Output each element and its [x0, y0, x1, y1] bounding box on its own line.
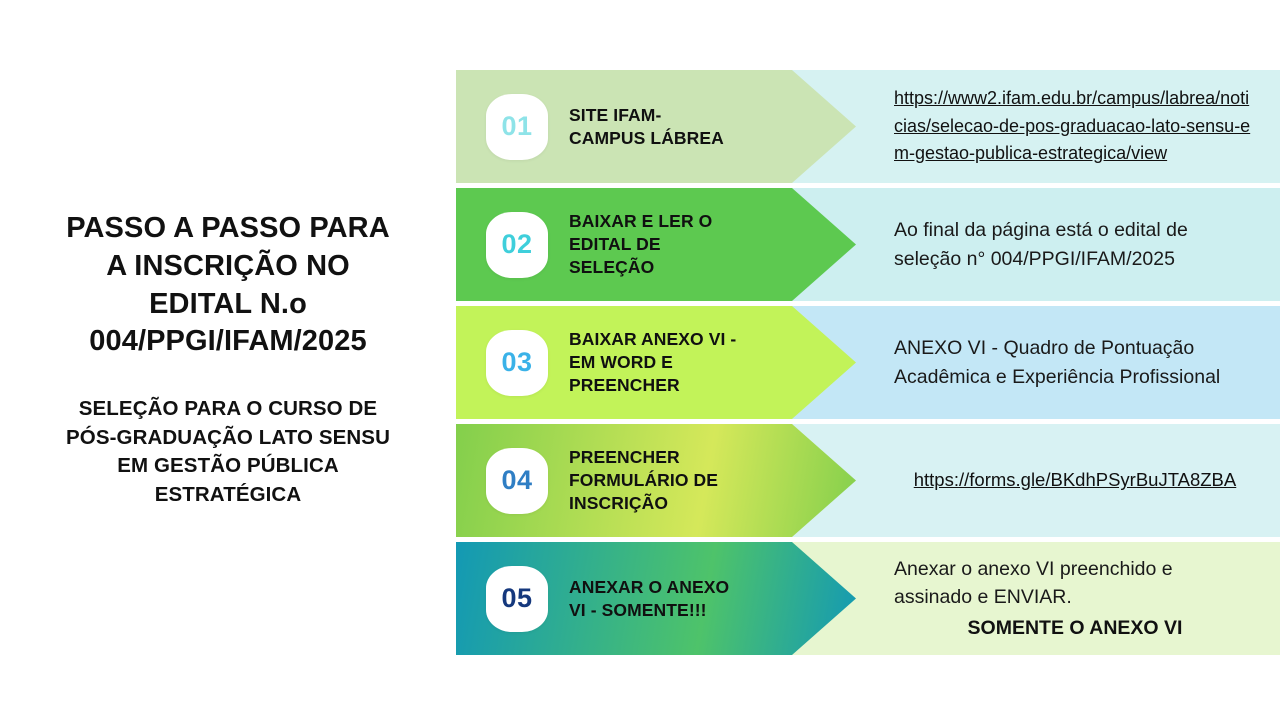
step-row: 04PREENCHER FORMULÁRIO DE INSCRIÇÃOhttps…: [456, 424, 1280, 537]
infographic-slide: PASSO A PASSO PARA A INSCRIÇÃO NO EDITAL…: [0, 0, 1280, 720]
step-label: BAIXAR E LER O EDITAL DE SELEÇÃO: [569, 210, 712, 278]
step-number: 04: [501, 467, 532, 494]
step-description: Anexar o anexo VI preenchido e assinado …: [856, 542, 1280, 655]
step-label: PREENCHER FORMULÁRIO DE INSCRIÇÃO: [569, 446, 718, 514]
step-arrow: 05ANEXAR O ANEXO VI - SOMENTE!!!: [456, 542, 856, 655]
step-number: 03: [501, 349, 532, 376]
step-arrow: 03BAIXAR ANEXO VI - EM WORD E PREENCHER: [456, 306, 856, 419]
step-description: ANEXO VI - Quadro de Pontuação Acadêmica…: [856, 306, 1280, 419]
step-description: Ao final da página está o edital de sele…: [856, 188, 1280, 301]
step-description-emphasis: SOMENTE O ANEXO VI: [894, 614, 1256, 642]
step-link[interactable]: https://www2.ifam.edu.br/campus/labrea/n…: [894, 85, 1256, 167]
step-row: 02BAIXAR E LER O EDITAL DE SELEÇÃOAo fin…: [456, 188, 1280, 301]
step-arrow: 04PREENCHER FORMULÁRIO DE INSCRIÇÃO: [456, 424, 856, 537]
step-label: ANEXAR O ANEXO VI - SOMENTE!!!: [569, 576, 729, 622]
step-description-text: Ao final da página está o edital de sele…: [894, 216, 1256, 273]
step-row: 01SITE IFAM- CAMPUS LÁBREAhttps://www2.i…: [456, 70, 1280, 183]
steps-list: 01SITE IFAM- CAMPUS LÁBREAhttps://www2.i…: [456, 70, 1280, 655]
step-number-badge: 05: [486, 566, 548, 632]
step-number-badge: 01: [486, 94, 548, 160]
step-description: https://www2.ifam.edu.br/campus/labrea/n…: [856, 70, 1280, 183]
step-description-text: Anexar o anexo VI preenchido e assinado …: [894, 555, 1256, 612]
step-number: 02: [501, 231, 532, 258]
step-description: https://forms.gle/BKdhPSyrBuJTA8ZBA: [856, 424, 1280, 537]
step-label: BAIXAR ANEXO VI - EM WORD E PREENCHER: [569, 328, 736, 396]
step-number: 01: [501, 113, 532, 140]
step-arrow: 01SITE IFAM- CAMPUS LÁBREA: [456, 70, 856, 183]
page-title: PASSO A PASSO PARA A INSCRIÇÃO NO EDITAL…: [66, 210, 390, 361]
step-number-badge: 03: [486, 330, 548, 396]
step-number-badge: 02: [486, 212, 548, 278]
step-row: 03BAIXAR ANEXO VI - EM WORD E PREENCHERA…: [456, 306, 1280, 419]
step-number: 05: [501, 585, 532, 612]
step-link[interactable]: https://forms.gle/BKdhPSyrBuJTA8ZBA: [894, 466, 1256, 494]
page-subtitle: SELEÇÃO PARA O CURSO DE PÓS-GRADUAÇÃO LA…: [66, 395, 390, 510]
step-arrow: 02BAIXAR E LER O EDITAL DE SELEÇÃO: [456, 188, 856, 301]
step-row: 05ANEXAR O ANEXO VI - SOMENTE!!!Anexar o…: [456, 542, 1280, 655]
step-number-badge: 04: [486, 448, 548, 514]
title-panel: PASSO A PASSO PARA A INSCRIÇÃO NO EDITAL…: [0, 0, 456, 720]
step-label: SITE IFAM- CAMPUS LÁBREA: [569, 104, 724, 150]
step-description-text: ANEXO VI - Quadro de Pontuação Acadêmica…: [894, 334, 1256, 391]
